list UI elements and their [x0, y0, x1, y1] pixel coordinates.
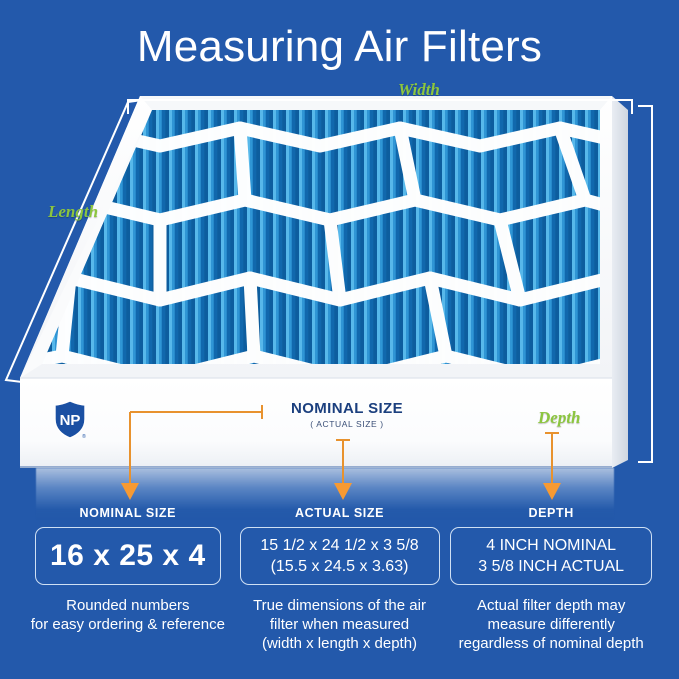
page-title: Measuring Air Filters	[0, 22, 679, 72]
nominal-size-caption-primary: NOMINAL SIZE	[267, 400, 427, 417]
column-actual-value-line: 15 1/2 x 24 1/2 x 3 5/8	[260, 535, 418, 556]
column-actual-description-line: filter when measured	[234, 615, 446, 634]
column-actual-description: True dimensions of the air filter when m…	[234, 596, 446, 653]
nominal-size-caption-secondary: ( ACTUAL SIZE )	[267, 419, 427, 429]
column-actual-heading: ACTUAL SIZE	[234, 506, 446, 520]
column-nominal-heading: NOMINAL SIZE	[22, 506, 234, 520]
column-nominal-description: Rounded numbers for easy ordering & refe…	[22, 596, 234, 634]
column-depth-value-line: 4 INCH NOMINAL	[486, 535, 616, 556]
column-depth: DEPTH 4 INCH NOMINAL 3 5/8 INCH ACTUAL A…	[445, 506, 657, 653]
column-nominal-value: 16 x 25 x 4	[50, 539, 206, 573]
column-nominal-value-box: 16 x 25 x 4	[35, 527, 221, 585]
column-actual-description-line: (width x length x depth)	[234, 634, 446, 653]
column-nominal-description-line: for easy ordering & reference	[22, 615, 234, 634]
np-logo-text: NP	[60, 412, 81, 429]
np-shield-logo: NP ®	[52, 400, 88, 440]
column-depth-value-line: 3 5/8 INCH ACTUAL	[478, 556, 624, 577]
nominal-size-caption: NOMINAL SIZE ( ACTUAL SIZE )	[267, 400, 427, 429]
column-actual-value-box: 15 1/2 x 24 1/2 x 3 5/8 (15.5 x 24.5 x 3…	[240, 527, 440, 585]
label-depth: Depth	[538, 408, 581, 428]
summary-columns: NOMINAL SIZE 16 x 25 x 4 Rounded numbers…	[0, 506, 679, 653]
label-width: Width	[398, 80, 440, 100]
column-depth-description: Actual filter depth may measure differen…	[445, 596, 657, 653]
column-nominal-description-line: Rounded numbers	[22, 596, 234, 615]
column-depth-description-line: regardless of nominal depth	[445, 634, 657, 653]
column-actual-value-line: (15.5 x 24.5 x 3.63)	[271, 556, 409, 577]
infographic-page: Measuring Air Filters	[0, 0, 679, 679]
column-actual-description-line: True dimensions of the air	[234, 596, 446, 615]
column-depth-value-box: 4 INCH NOMINAL 3 5/8 INCH ACTUAL	[450, 527, 652, 585]
registered-mark: ®	[82, 433, 86, 440]
depth-bracket	[638, 106, 652, 462]
filter-frame-right-side	[612, 96, 628, 468]
column-depth-description-line: measure differently	[445, 615, 657, 634]
column-nominal: NOMINAL SIZE 16 x 25 x 4 Rounded numbers…	[22, 506, 234, 653]
label-length: Length	[48, 202, 98, 222]
filter-media	[0, 98, 679, 380]
column-depth-description-line: Actual filter depth may	[445, 596, 657, 615]
column-depth-heading: DEPTH	[445, 506, 657, 520]
column-actual: ACTUAL SIZE 15 1/2 x 24 1/2 x 3 5/8 (15.…	[234, 506, 446, 653]
